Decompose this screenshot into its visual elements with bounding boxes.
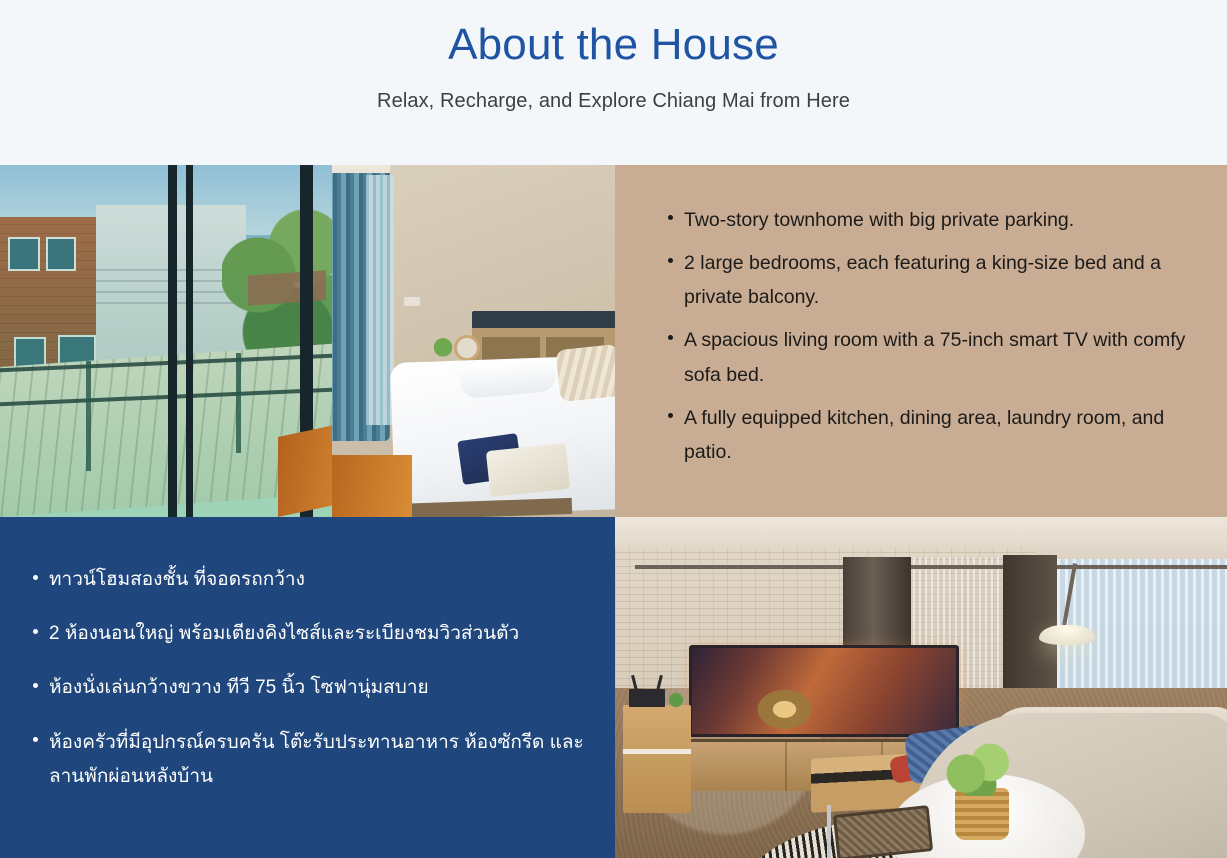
bullet-icon [668, 413, 673, 418]
list-item: Two-story townhome with big private park… [668, 203, 1187, 238]
page-header: About the House Relax, Recharge, and Exp… [0, 0, 1227, 165]
railing-post [236, 353, 241, 453]
potted-plant [665, 689, 687, 709]
bullet-icon [33, 575, 38, 580]
railing-post [86, 361, 91, 471]
list-item-label: ห้องครัวที่มีอุปกรณ์ครบครัน โต๊ะรับประทา… [49, 732, 584, 787]
bullet-icon [668, 258, 673, 263]
pillow [555, 344, 615, 402]
list-item-label: Two-story townhome with big private park… [684, 209, 1074, 231]
bedroom-balcony-image [0, 165, 615, 517]
bullet-icon [33, 629, 38, 634]
window [46, 237, 76, 271]
woven-tray [833, 805, 933, 858]
smart-tv [689, 645, 959, 737]
page-subtitle: Relax, Recharge, and Explore Chiang Mai … [377, 90, 850, 113]
bullet-icon [668, 215, 673, 220]
router-icon [629, 689, 665, 707]
list-item: ทาวน์โฮมสองชั้น ที่จอดรถกว้าง [33, 563, 585, 597]
balcony-view [0, 165, 332, 517]
living-room-photo [615, 517, 1227, 858]
white-towel [486, 443, 570, 497]
list-item: 2 large bedrooms, each featuring a king-… [668, 246, 1187, 315]
list-item: A spacious living room with a 75-inch sm… [668, 323, 1187, 392]
features-th-panel: ทาวน์โฮมสองชั้น ที่จอดรถกว้าง 2 ห้องนอนใ… [0, 517, 615, 858]
window [8, 237, 40, 271]
living-room-image [615, 517, 1227, 858]
light-switch [404, 297, 420, 306]
round-mirror [454, 335, 480, 361]
features-th-list: ทาวน์โฮมสองชั้น ที่จอดรถกว้าง 2 ห้องนอนใ… [0, 517, 615, 794]
page-title: About the House [448, 20, 779, 70]
door-mullion [168, 165, 177, 517]
about-the-house-page: About the House Relax, Recharge, and Exp… [0, 0, 1227, 858]
list-item-label: A spacious living room with a 75-inch sm… [684, 329, 1185, 386]
side-shelf [623, 705, 691, 813]
bedroom-balcony-photo [0, 165, 615, 517]
table-leg [827, 805, 831, 858]
list-item-label: 2 ห้องนอนใหญ่ พร้อมเตียงคิงไซส์และระเบีย… [49, 623, 519, 644]
bullet-icon [33, 683, 38, 688]
list-item: 2 ห้องนอนใหญ่ พร้อมเตียงคิงไซส์และระเบีย… [33, 617, 585, 651]
list-item: ห้องครัวที่มีอุปกรณ์ครบครัน โต๊ะรับประทา… [33, 726, 585, 794]
potted-plant [432, 337, 454, 363]
list-item-label: ทาวน์โฮมสองชั้น ที่จอดรถกว้าง [49, 569, 305, 590]
bullet-icon [668, 335, 673, 340]
features-en-list: Two-story townhome with big private park… [615, 165, 1227, 470]
door-mullion [186, 165, 193, 517]
features-en-panel: Two-story townhome with big private park… [615, 165, 1227, 517]
list-item: A fully equipped kitchen, dining area, l… [668, 401, 1187, 470]
sheer-curtain [366, 175, 394, 425]
plant-foliage [943, 740, 1019, 796]
list-item-label: 2 large bedrooms, each featuring a king-… [684, 252, 1161, 309]
wooden-floor-strip [278, 422, 332, 517]
wooden-floor [332, 455, 412, 517]
list-item-label: A fully equipped kitchen, dining area, l… [684, 407, 1164, 464]
list-item-label: ห้องนั่งเล่นกว้างขวาง ทีวี 75 นิ้ว โซฟาน… [49, 677, 429, 698]
content-grid: Two-story townhome with big private park… [0, 165, 1227, 858]
bullet-icon [33, 737, 38, 742]
bedroom-interior [332, 165, 615, 517]
arc-lamp-shade [1039, 625, 1095, 645]
curtain-rod [635, 565, 1227, 569]
list-item: ห้องนั่งเล่นกว้างขวาง ทีวี 75 นิ้ว โซฟาน… [33, 671, 585, 705]
red-roof [248, 270, 326, 305]
